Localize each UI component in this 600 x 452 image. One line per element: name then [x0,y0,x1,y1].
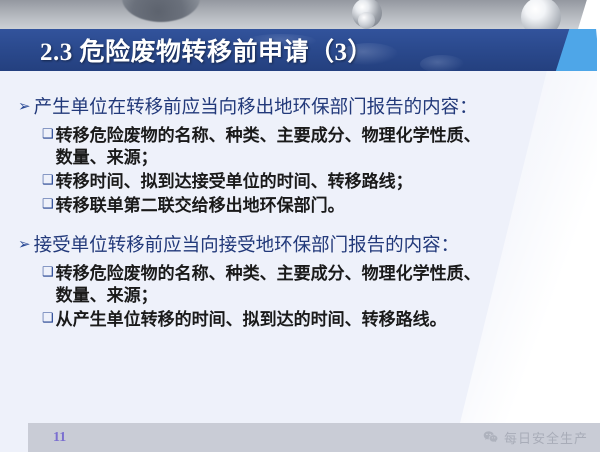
bullet-level1-text: 接受单位转移前应当向接受地环保部门报告的内容： [34,235,460,259]
wechat-icon [482,429,499,446]
sub-bullet-line-1: 转移危险废物的名称、种类、主要成分、物理化学性质、 [56,263,481,285]
bullet-group-2: ➢ 接受单位转移前应当向接受地环保部门报告的内容： ❑ 转移危险废物的名称、种类… [18,235,590,333]
sub-bullet-item: ❑ 转移时间、拟到达接受单位的时间、转移路线； [42,171,590,193]
sphere-decoration-1 [122,0,200,22]
square-bullet-icon: ❑ [42,195,54,213]
sub-bullet-item: ❑ 转移危险废物的名称、种类、主要成分、物理化学性质、 数量、来源； [42,125,590,169]
slide-canvas: 2.3 危险废物转移前申请（3） ➢ 产生单位在转移前应当向移出地环保部门报告的… [0,0,600,452]
watermark-text: 每日安全生产 [504,428,588,447]
sub-bullet-item: ❑ 转移联单第二联交给移出地环保部门。 [42,195,590,217]
square-bullet-icon: ❑ [42,125,54,143]
bullet-level1-text: 产生单位在转移前应当向移出地环保部门报告的内容： [34,97,478,121]
sub-bullet-text: 转移危险废物的名称、种类、主要成分、物理化学性质、 数量、来源； [56,263,481,307]
sphere-decoration-2b [358,12,375,29]
title-bar-glow-2 [420,55,464,71]
sub-bullet-list-1: ❑ 转移危险废物的名称、种类、主要成分、物理化学性质、 数量、来源； ❑ 转移时… [42,125,590,217]
triangle-bullet-icon: ➢ [18,235,31,256]
bullet-level1-heading: ➢ 产生单位在转移前应当向移出地环保部门报告的内容： [18,97,590,121]
sub-bullet-text: 转移联单第二联交给移出地环保部门。 [56,195,345,217]
square-bullet-icon: ❑ [42,263,54,281]
sub-bullet-list-2: ❑ 转移危险废物的名称、种类、主要成分、物理化学性质、 数量、来源； ❑ 从产生… [42,263,590,331]
sub-bullet-text: 从产生单位转移的时间、拟到达的时间、转移路线。 [56,309,447,331]
sub-bullet-text: 转移危险废物的名称、种类、主要成分、物理化学性质、 数量、来源； [56,125,481,169]
slide-title: 2.3 危险废物转移前申请（3） [40,29,373,71]
sub-bullet-text: 转移时间、拟到达接受单位的时间、转移路线； [56,171,413,193]
sub-bullet-item: ❑ 转移危险废物的名称、种类、主要成分、物理化学性质、 数量、来源； [42,263,590,307]
sub-bullet-line-1: 转移危险废物的名称、种类、主要成分、物理化学性质、 [56,125,481,147]
sub-bullet-line-2: 数量、来源； [56,285,481,307]
footer-left-gap [0,423,28,452]
square-bullet-icon: ❑ [42,309,54,327]
bullet-group-1: ➢ 产生单位在转移前应当向移出地环保部门报告的内容： ❑ 转移危险废物的名称、种… [18,97,590,219]
bullet-content: ➢ 产生单位在转移前应当向移出地环保部门报告的内容： ❑ 转移危险废物的名称、种… [0,71,600,423]
watermark: 每日安全生产 [482,423,588,452]
sub-bullet-item: ❑ 从产生单位转移的时间、拟到达的时间、转移路线。 [42,309,590,331]
triangle-bullet-icon: ➢ [18,97,31,118]
page-number: 11 [53,423,66,452]
square-bullet-icon: ❑ [42,171,54,189]
bullet-level1-heading: ➢ 接受单位转移前应当向接受地环保部门报告的内容： [18,235,590,259]
sub-bullet-line-2: 数量、来源； [56,147,481,169]
slide-body: ➢ 产生单位在转移前应当向移出地环保部门报告的内容： ❑ 转移危险废物的名称、种… [0,71,600,423]
header-decoration-band [0,0,600,29]
